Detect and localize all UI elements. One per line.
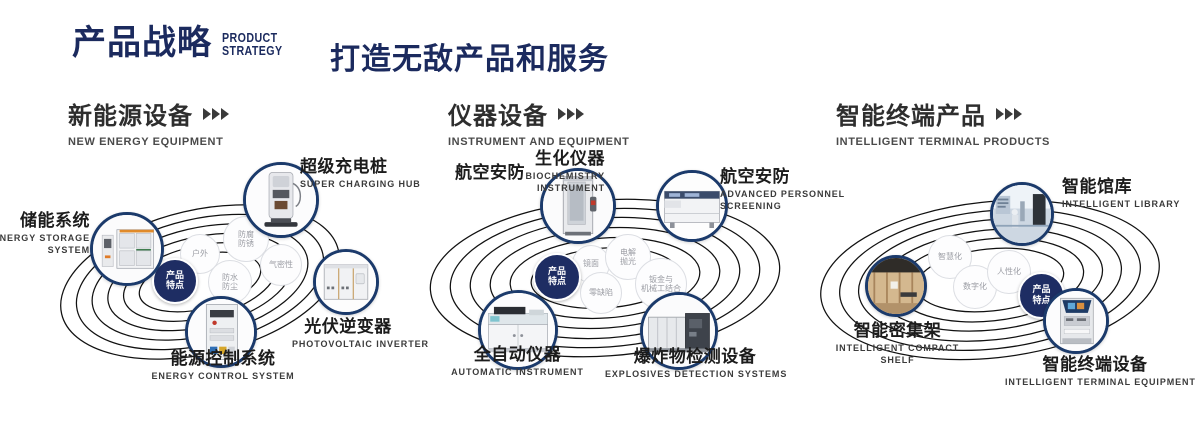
section-title-cn-text: 智能终端产品 bbox=[836, 96, 986, 131]
section-title-cn: 智能终端产品 bbox=[836, 96, 1050, 131]
node-advanced-personnel-screening[interactable] bbox=[656, 170, 728, 242]
page-title-en-line2: STRATEGY bbox=[222, 44, 283, 57]
node-label-photovoltaic-inverter: 光伏逆变器 PHOTOVOLTAIC INVERTER bbox=[292, 318, 404, 351]
self-service-kiosk-image bbox=[1046, 291, 1106, 351]
page-title-en: PRODUCT STRATEGY bbox=[222, 31, 283, 60]
feature-bubble-text-1: 防水防尘 bbox=[222, 273, 238, 291]
chevron-right-icon bbox=[558, 108, 584, 120]
section-title-en: INSTRUMENT AND EQUIPMENT bbox=[448, 136, 629, 148]
node-label-automatic-instrument: 全自动仪器 AUTOMATIC INSTRUMENT bbox=[440, 346, 595, 379]
library-interior-photo bbox=[993, 185, 1051, 243]
feature-bubble-text-2: 电解抛光 bbox=[620, 248, 636, 266]
section-title-cn-text: 新能源设备 bbox=[68, 96, 193, 131]
section-title-cn: 仪器设备 bbox=[448, 96, 629, 131]
section-title-en: NEW ENERGY EQUIPMENT bbox=[68, 136, 229, 148]
cluster-intelligent-terminal: 智慧化 数字化 人性化 产品 特点 bbox=[790, 150, 1200, 400]
chevron-right-icon bbox=[203, 108, 229, 120]
node-label-intelligent-library: 智能馆库 INTELLIGENT LIBRARY bbox=[1062, 178, 1180, 211]
node-intelligent-terminal-equipment[interactable] bbox=[1043, 288, 1109, 354]
cluster-instrument: 镜面 电解抛光 零缺陷 钣金与机械工结合 产品 特点 bbox=[400, 150, 820, 400]
energy-storage-cabinet-image bbox=[93, 215, 161, 283]
node-intelligent-library[interactable] bbox=[990, 182, 1054, 246]
section-title-intelligent-terminal: 智能终端产品 INTELLIGENT TERMINAL PRODUCTS bbox=[836, 96, 1050, 148]
section-title-en: INTELLIGENT TERMINAL PRODUCTS bbox=[836, 136, 1050, 148]
node-label-en: BIOCHEMISTRYINSTRUMENT bbox=[440, 171, 605, 194]
page-slogan: 打造无敌产品和服务 bbox=[330, 34, 609, 78]
feature-bubble: 零缺陷 bbox=[580, 272, 622, 314]
cluster-new-energy: 户外 防腐防锈 防水防尘 气密性 产品 特点 bbox=[0, 150, 420, 400]
node-label-energy-control-system: 能源控制系统 ENERGY CONTROL SYSTEM bbox=[148, 350, 298, 383]
feature-bubble: 气密性 bbox=[260, 244, 302, 286]
node-label-intelligent-compact-shelf: 智能密集架 INTELLIGENT COMPACTSHELF bbox=[830, 322, 965, 366]
node-label-biochemistry-instrument: 生化仪器 BIOCHEMISTRYINSTRUMENT bbox=[440, 150, 605, 194]
feature-bubble-text-3: 钣金与机械工结合 bbox=[641, 275, 681, 293]
section-title-cn-text: 仪器设备 bbox=[448, 96, 548, 131]
node-label-en: INTELLIGENT COMPACTSHELF bbox=[830, 343, 965, 366]
node-label-energy-storage-system: 储能系统 ENERGY STORAGESYSTEM bbox=[0, 212, 90, 256]
screening-machine-image bbox=[659, 173, 725, 239]
section-title-new-energy: 新能源设备 NEW ENERGY EQUIPMENT bbox=[68, 96, 229, 148]
page-header: 产品战略 PRODUCT STRATEGY bbox=[72, 26, 296, 60]
node-label-en: ENERGY STORAGESYSTEM bbox=[0, 233, 90, 256]
node-energy-storage-system[interactable] bbox=[90, 212, 164, 286]
node-photovoltaic-inverter[interactable] bbox=[313, 249, 379, 315]
node-label-intelligent-terminal-equipment: 智能终端设备 INTELLIGENT TERMINAL EQUIPMENT bbox=[1005, 356, 1185, 389]
compact-shelf-photo bbox=[868, 258, 924, 314]
page-title: 产品战略 bbox=[72, 26, 212, 60]
inverter-cabinet-image bbox=[316, 252, 376, 312]
chevron-right-icon bbox=[996, 108, 1022, 120]
node-label-explosives-detection-systems: 爆炸物检测设备 EXPLOSIVES DETECTION SYSTEMS bbox=[605, 348, 785, 381]
section-title-instrument: 仪器设备 INSTRUMENT AND EQUIPMENT bbox=[448, 96, 629, 148]
product-strategy-infographic: 产品战略 PRODUCT STRATEGY 打造无敌产品和服务 新能源设备 NE… bbox=[0, 0, 1200, 422]
node-intelligent-compact-shelf[interactable] bbox=[865, 255, 927, 317]
section-title-cn: 新能源设备 bbox=[68, 96, 229, 131]
